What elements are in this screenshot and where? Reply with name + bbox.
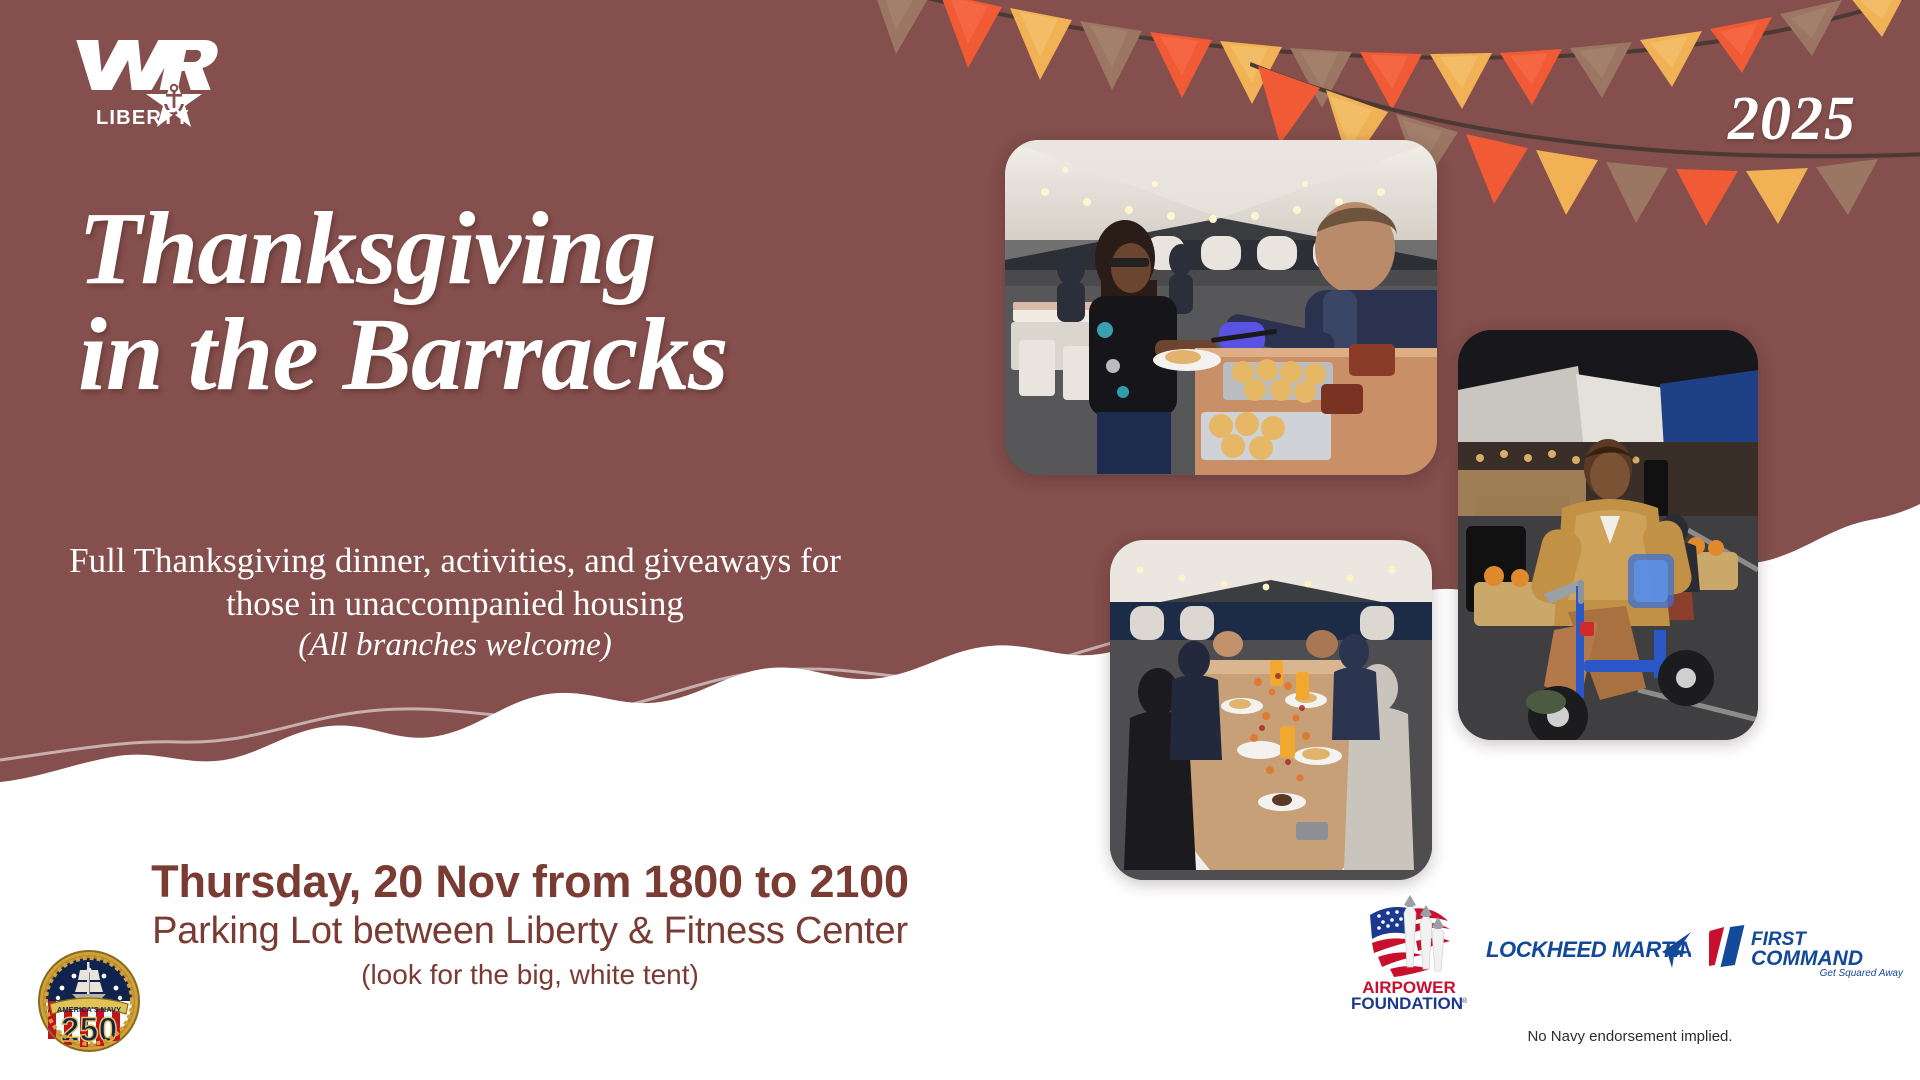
event-location: Parking Lot between Liberty & Fitness Ce… [90, 908, 970, 956]
event-details: Thursday, 20 Nov from 1800 to 2100 Parki… [90, 855, 970, 993]
poster-canvas: LIBERTY 2025 Thanksgiving in the Barrack… [0, 0, 1920, 1080]
airpower-foundation-logo: AIRPOWER FOUNDATION ® [1350, 889, 1468, 1011]
event-location-hint: (look for the big, white tent) [90, 956, 970, 994]
year-label: 2025 [1728, 84, 1856, 155]
headline-line-2: in the Barracks [78, 302, 728, 408]
mwr-liberty-logo: LIBERTY [48, 32, 228, 137]
foundation-text: FOUNDATION [1351, 994, 1463, 1011]
photo-volunteer-serving-food [1005, 140, 1437, 475]
lockheed-martin-text: LOCKHEED MARTIN [1486, 937, 1691, 962]
description-note: (All branches welcome) [40, 625, 870, 665]
photo-trike-ride-activity [1458, 330, 1758, 740]
description-line-1: Full Thanksgiving dinner, activities, an… [69, 541, 635, 580]
page-title: Thanksgiving in the Barracks [78, 196, 728, 408]
command-text: COMMAND [1751, 947, 1863, 970]
photo-service-members-dinner [1110, 540, 1432, 880]
event-description: Full Thanksgiving dinner, activities, an… [40, 540, 870, 666]
seal-number: 250 [61, 1011, 118, 1049]
first-command-logo: FIRST COMMAND Get Squared Away [1709, 921, 1904, 979]
headline-line-1: Thanksgiving [78, 191, 655, 306]
registered-mark: ® [1462, 997, 1468, 1005]
lockheed-martin-logo: LOCKHEED MARTIN [1486, 930, 1691, 970]
event-datetime: Thursday, 20 Nov from 1800 to 2100 [90, 855, 970, 908]
logo-liberty-text: LIBERTY [96, 107, 190, 129]
sponsor-logos: AIRPOWER FOUNDATION ® LOCKHEED MARTIN FI… [1350, 885, 1890, 1015]
first-command-mark [1709, 925, 1744, 967]
first-command-tagline: Get Squared Away [1820, 968, 1904, 979]
endorsement-disclaimer: No Navy endorsement implied. [1440, 1028, 1820, 1045]
